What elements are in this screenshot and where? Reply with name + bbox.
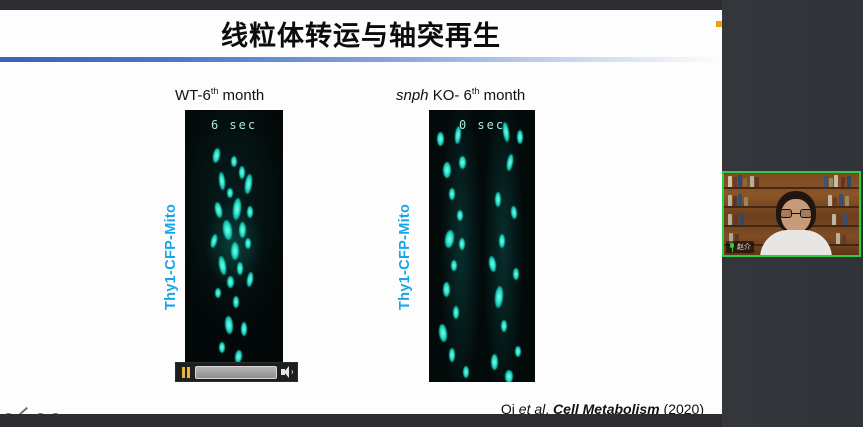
caption-knockout: snph KO- 6th month <box>396 86 525 104</box>
caption-knockout-gene: snph <box>396 87 429 104</box>
participant-video-tile[interactable]: 赵介 <box>722 171 861 257</box>
volume-icon[interactable] <box>280 366 294 379</box>
presentation-slide: 线粒体转运与轴突再生 WT-6th month snph KO- 6th mon… <box>0 10 722 414</box>
page-title: 线粒体转运与轴突再生 <box>0 14 722 53</box>
glasses-icon <box>780 209 812 218</box>
media-player-controls[interactable] <box>175 362 298 382</box>
previous-slide-icon[interactable]: ‹ <box>3 413 14 414</box>
title-underline-rule <box>0 57 722 62</box>
meeting-screen-share-view: 线粒体转运与轴突再生 WT-6th month snph KO- 6th mon… <box>0 0 863 427</box>
timestamp-left: 6 sec <box>185 118 283 132</box>
pen-icon[interactable] <box>18 413 31 414</box>
pause-button[interactable] <box>179 366 192 379</box>
top-chrome-bar <box>0 0 722 10</box>
citation-year: (2020) <box>660 401 704 414</box>
axis-label-left-thy1-cfp-mito: Thy1-CFP-Mito <box>163 204 179 310</box>
more-options-icon[interactable]: ••• <box>35 413 46 414</box>
microscopy-movie-knockout[interactable]: 0 sec <box>429 110 535 382</box>
caption-knockout-suffix: month <box>479 87 525 104</box>
microscopy-movie-wildtype[interactable]: 6 sec <box>185 110 283 380</box>
slide-corner-marker <box>716 21 722 27</box>
caption-wildtype: WT-6th month <box>175 86 264 104</box>
timestamp-right: 0 sec <box>429 118 535 132</box>
bottom-chrome-bar <box>0 414 722 427</box>
microphone-icon <box>729 243 735 252</box>
caption-wildtype-prefix: WT-6 <box>175 87 211 104</box>
presenter-controls[interactable]: ‹ ••• › <box>3 413 61 414</box>
caption-knockout-prefix: KO- 6 <box>429 87 472 104</box>
caption-wildtype-suffix: month <box>218 87 264 104</box>
citation: Qi et al, Cell Metabolism (2020) <box>0 401 704 414</box>
axis-label-right-thy1-cfp-mito: Thy1-CFP-Mito <box>397 204 413 310</box>
next-slide-icon[interactable]: › <box>50 413 61 414</box>
citation-author: Qi <box>501 401 519 414</box>
citation-comma: , <box>545 401 553 414</box>
citation-etal: et al <box>519 401 545 414</box>
participant-nametag: 赵介 <box>726 241 754 253</box>
citation-journal: Cell Metabolism <box>553 401 660 414</box>
seek-bar[interactable] <box>195 366 277 379</box>
participant-name: 赵介 <box>737 242 751 252</box>
